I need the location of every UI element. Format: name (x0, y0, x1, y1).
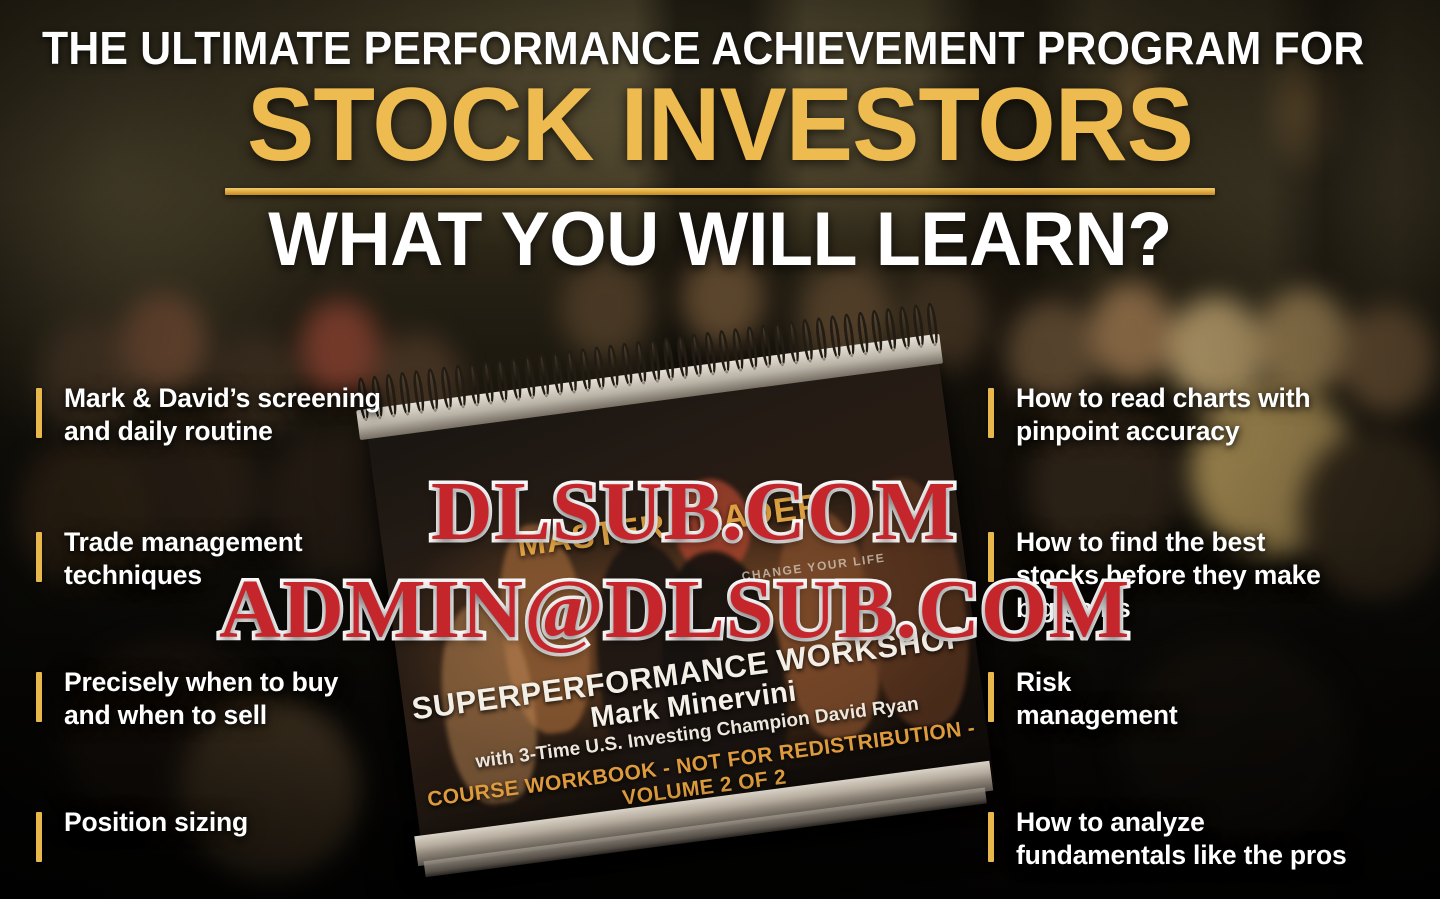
feature-label: How to find the best stocks before they … (1016, 526, 1418, 625)
spiral-coil-icon (758, 324, 773, 369)
spiral-coil-icon (800, 318, 815, 363)
promo-banner: THE ULTIMATE PERFORMANCE ACHIEVEMENT PRO… (0, 0, 1440, 899)
spiral-coil-icon (550, 351, 565, 396)
spiral-coil-icon (897, 306, 912, 351)
spiral-coil-icon (870, 309, 885, 354)
spiral-coil-icon (675, 335, 690, 380)
feature-label: How to analyze fundamentals like the pro… (1016, 806, 1418, 872)
spiral-coil-icon (689, 333, 704, 378)
spiral-coil-icon (772, 322, 787, 367)
spiral-coil-icon (523, 355, 538, 400)
spiral-coil-icon (814, 317, 829, 362)
feature-label: How to read charts with pinpoint accurac… (1016, 382, 1418, 448)
spiral-coil-icon (925, 302, 940, 347)
spiral-coil-icon (911, 304, 926, 349)
feature-item: How to find the best stocks before they … (988, 526, 1418, 625)
feature-item: How to analyze fundamentals like the pro… (988, 806, 1418, 872)
feature-label: Precisely when to buy and when to sell (64, 666, 466, 732)
brand-headline: STOCK INVESTORS (22, 73, 1419, 177)
feature-label: Mark & David’s screening and daily routi… (64, 382, 466, 448)
spiral-coil-icon (536, 353, 551, 398)
bullet-bar-icon (36, 812, 42, 862)
spiral-coil-icon (745, 326, 760, 371)
spiral-coil-icon (509, 357, 524, 402)
gold-divider-rule (225, 188, 1215, 195)
spiral-coil-icon (828, 315, 843, 360)
feature-item: Trade management techniques (36, 526, 466, 592)
spiral-coil-icon (703, 331, 718, 376)
bullet-bar-icon (988, 812, 994, 862)
kicker-headline: THE ULTIMATE PERFORMANCE ACHIEVEMENT PRO… (42, 25, 1307, 71)
feature-list-right: How to read charts with pinpoint accurac… (988, 382, 1418, 872)
spiral-coil-icon (620, 342, 635, 387)
bullet-bar-icon (36, 532, 42, 582)
feature-label: Risk management (1016, 666, 1418, 732)
spiral-coil-icon (661, 337, 676, 382)
feature-label: Position sizing (64, 806, 466, 839)
spiral-coil-icon (467, 362, 482, 407)
feature-item: Risk management (988, 666, 1418, 732)
spiral-coil-icon (564, 350, 579, 395)
spiral-coil-icon (731, 328, 746, 373)
bullet-bar-icon (36, 672, 42, 722)
spiral-coil-icon (883, 308, 898, 353)
spiral-coil-icon (842, 313, 857, 358)
bullet-bar-icon (988, 532, 994, 582)
feature-label: Trade management techniques (64, 526, 466, 592)
feature-item: Precisely when to buy and when to sell (36, 666, 466, 732)
spiral-coil-icon (786, 320, 801, 365)
spiral-coil-icon (647, 339, 662, 384)
bullet-bar-icon (988, 672, 994, 722)
spiral-coil-icon (717, 329, 732, 374)
spiral-coil-icon (592, 346, 607, 391)
feature-list-left: Mark & David’s screening and daily routi… (36, 382, 466, 839)
feature-item: Position sizing (36, 806, 466, 839)
bullet-bar-icon (36, 388, 42, 438)
spiral-coil-icon (856, 311, 871, 356)
spiral-coil-icon (578, 348, 593, 393)
spiral-coil-icon (606, 344, 621, 389)
feature-item: Mark & David’s screening and daily routi… (36, 382, 466, 448)
bullet-bar-icon (988, 388, 994, 438)
feature-item: How to read charts with pinpoint accurac… (988, 382, 1418, 448)
spiral-coil-icon (495, 359, 510, 404)
spiral-coil-icon (481, 360, 496, 405)
subheadline: WHAT YOU WILL LEARN? (22, 202, 1419, 278)
spiral-coil-icon (634, 340, 649, 385)
